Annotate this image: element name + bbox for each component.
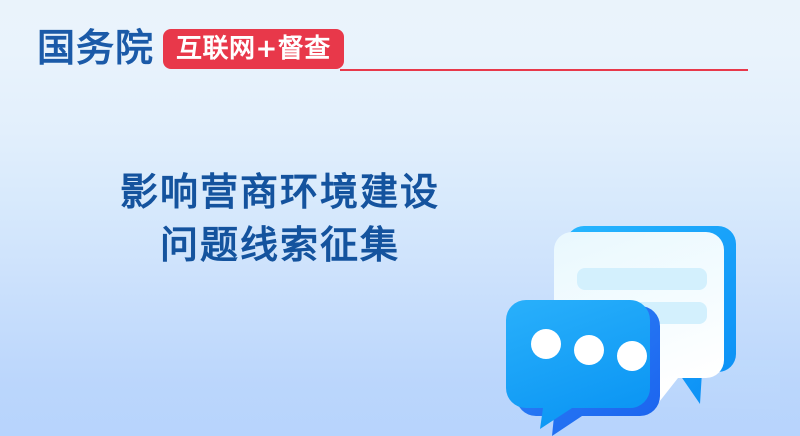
promo-banner: 国务院 互联网+督查 影响营商环境建设 问题线索征集	[0, 0, 800, 436]
typing-dot-1	[531, 329, 561, 359]
badge-label: 互联网+督查	[176, 36, 331, 62]
chat-bubbles-illustration	[480, 210, 800, 436]
page-title-line-2: 问题线索征集	[0, 219, 560, 272]
gov-council-logo: 国务院	[37, 26, 154, 70]
page-title-line-1: 影响营商环境建设	[0, 166, 560, 219]
page-title: 影响营商环境建设 问题线索征集	[0, 166, 560, 272]
small-bubble	[506, 300, 660, 436]
header-divider-rule	[340, 69, 748, 71]
typing-dot-2	[574, 335, 604, 365]
bubble-text-line-1	[577, 268, 707, 290]
banner-header: 国务院 互联网+督查	[0, 0, 800, 100]
internet-plus-supervision-badge[interactable]: 互联网+督查	[163, 29, 344, 69]
typing-dot-3	[617, 341, 647, 371]
